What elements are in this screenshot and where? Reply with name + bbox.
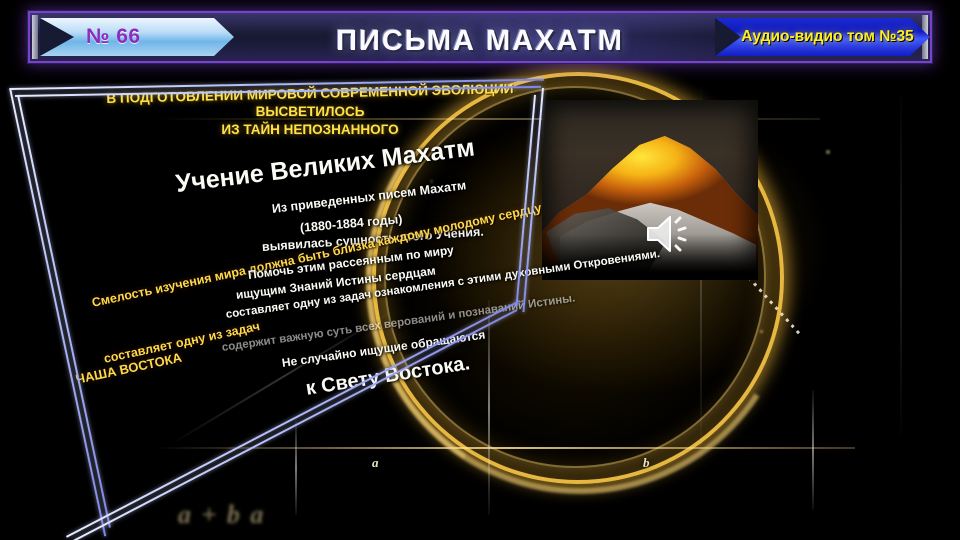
headline-line-3: ИЗ ТАЙН НЕПОЗНАННОГО	[140, 122, 480, 137]
slide-stage: a b a + b a В ПОДГОТОВЛЕНИИ МИРОВОЙ СОВР…	[0, 0, 960, 540]
headline-line-2: ВЫСВЕТИЛОСЬ	[160, 104, 460, 119]
slide-number-badge[interactable]: № 66	[40, 18, 234, 56]
background-spark-2	[760, 330, 763, 333]
diagram-label-a: a	[372, 455, 379, 471]
volume-badge-label: Аудио-видио том №35	[741, 28, 914, 46]
volume-badge[interactable]: Аудио-видио том №35	[715, 18, 930, 56]
diagram-baseline	[155, 447, 855, 449]
background-spark-1	[826, 150, 830, 154]
diagram-formula: a + b a	[178, 500, 265, 530]
slide-number-label: № 66	[86, 25, 141, 49]
diagram-vline-far2	[900, 95, 902, 435]
diagram-vline-left	[295, 420, 297, 515]
diagram-vline-right	[812, 390, 814, 510]
diagram-vline-mid	[488, 300, 490, 515]
diagram-label-b: b	[643, 455, 650, 471]
